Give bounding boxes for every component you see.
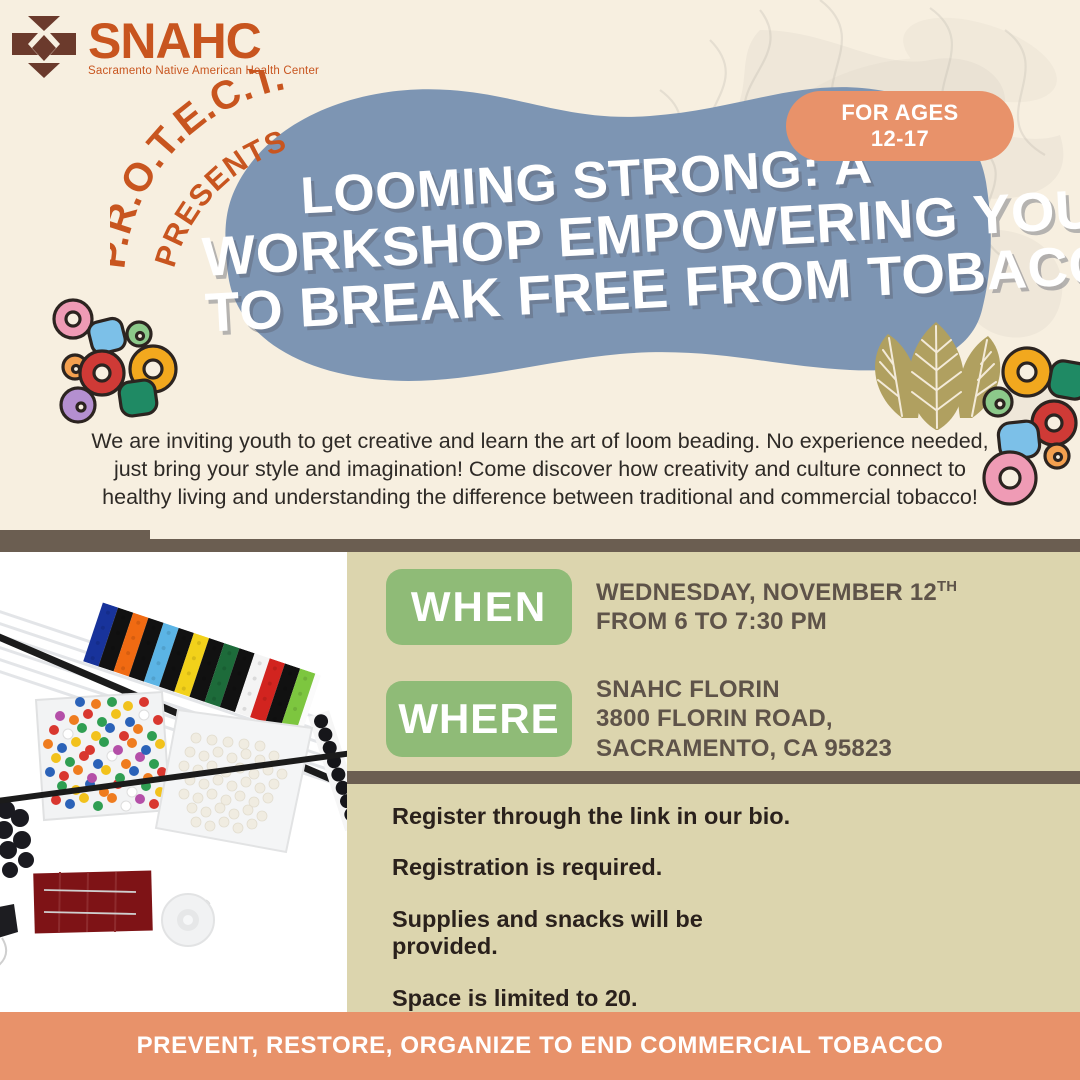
note-item: Register through the link in our bio. — [392, 803, 992, 830]
registration-notes: Register through the link in our bio. Re… — [392, 803, 992, 1012]
where-city: SACRAMENTO, CA 95823 — [596, 734, 892, 763]
intro-paragraph: We are inviting youth to get creative an… — [78, 428, 1002, 512]
logo-wordmark: SNAHC — [88, 18, 319, 64]
note-item: Registration is required. — [392, 854, 992, 881]
when-time: FROM 6 TO 7:30 PM — [596, 607, 957, 636]
when-row: WHEN WEDNESDAY, NOVEMBER 12TH FROM 6 TO … — [386, 569, 957, 645]
where-tag: WHERE — [386, 681, 572, 757]
footer-tagline: PREVENT, RESTORE, ORGANIZE TO END COMMER… — [137, 1032, 944, 1060]
when-date-prefix: WEDNESDAY, NOVEMBER 12 — [596, 579, 937, 606]
beading-supplies-photo — [0, 552, 350, 1012]
when-date-suffix: TH — [937, 579, 957, 595]
when-tag: WHEN — [386, 569, 572, 645]
divider-top — [0, 539, 1080, 552]
age-badge-line-1: FOR AGES — [841, 100, 958, 126]
note-item: Supplies and snacks will be provided. — [392, 906, 752, 961]
flyer-poster: SNAHC Sacramento Native American Health … — [0, 0, 1080, 1080]
when-value: WEDNESDAY, NOVEMBER 12TH FROM 6 TO 7:30 … — [596, 578, 957, 637]
where-row: WHERE SNAHC FLORIN 3800 FLORIN ROAD, SAC… — [386, 675, 892, 763]
where-value: SNAHC FLORIN 3800 FLORIN ROAD, SACRAMENT… — [596, 675, 892, 763]
age-range-badge: FOR AGES 12-17 — [786, 91, 1014, 161]
snahc-diamond-logo-icon — [12, 14, 76, 80]
note-item: Space is limited to 20. — [392, 985, 992, 1012]
tobacco-leaves-icon — [862, 318, 1012, 433]
where-street: 3800 FLORIN ROAD, — [596, 704, 892, 733]
divider-mid — [347, 771, 1080, 784]
where-venue: SNAHC FLORIN — [596, 675, 892, 704]
footer-banner: PREVENT, RESTORE, ORGANIZE TO END COMMER… — [0, 1012, 1080, 1080]
age-badge-line-2: 12-17 — [871, 126, 929, 152]
